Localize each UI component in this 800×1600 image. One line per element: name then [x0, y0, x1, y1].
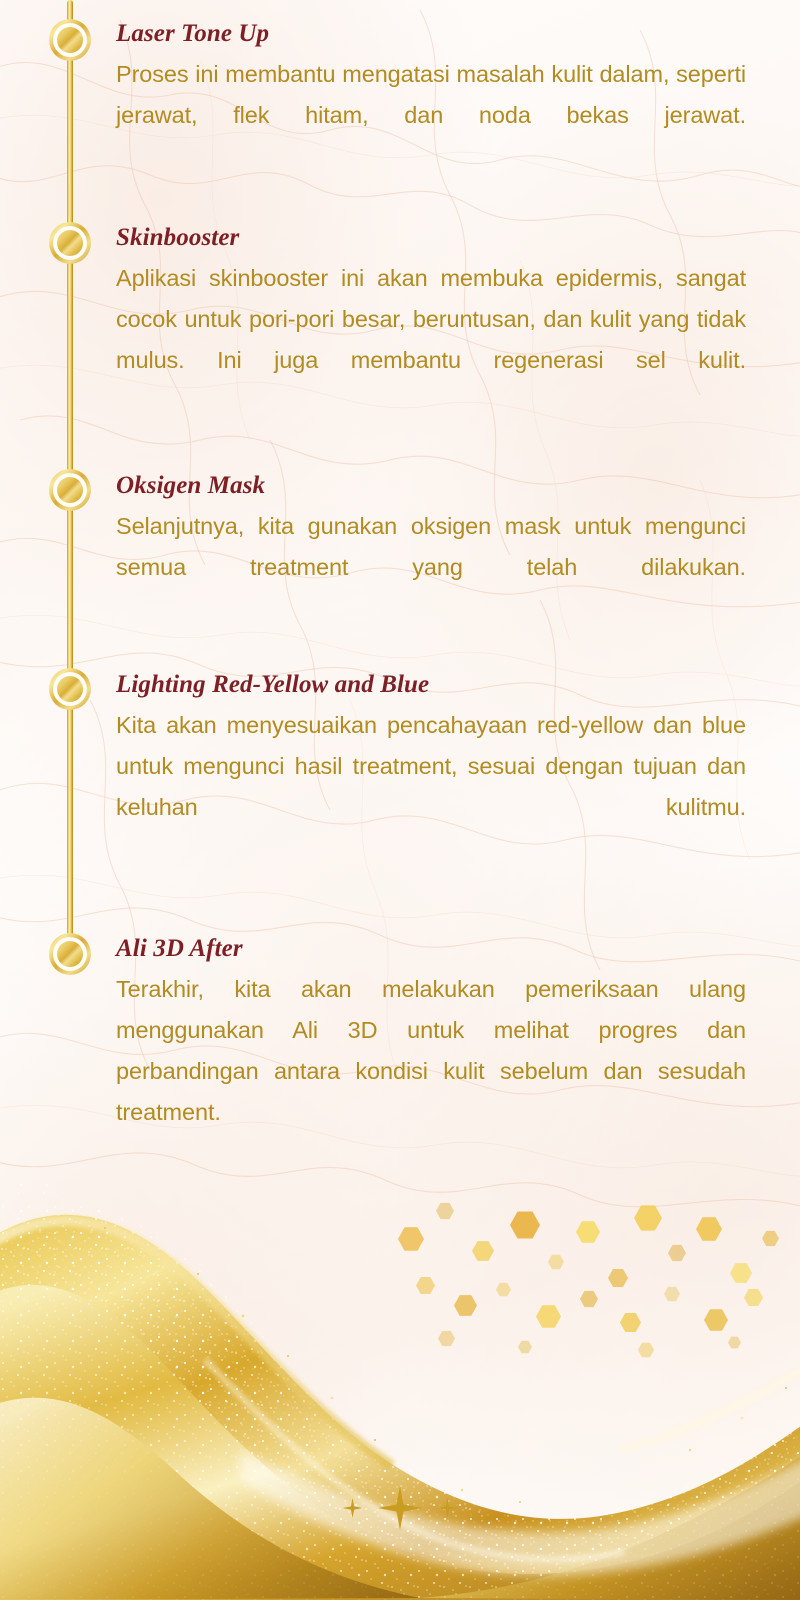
step-body: Aplikasi skinbooster ini akan membuka ep… — [116, 258, 746, 422]
timeline-marker-2 — [49, 222, 91, 264]
gold-dot-icon — [57, 941, 83, 967]
step-body: Proses ini membantu mengatasi masalah ku… — [116, 54, 746, 177]
gold-dot-icon — [57, 230, 83, 256]
step-title: Lighting Red-Yellow and Blue — [116, 671, 746, 699]
step-title: Ali 3D After — [116, 935, 746, 963]
timeline-marker-1 — [49, 19, 91, 61]
gold-dot-icon — [57, 477, 83, 503]
step-section-4: Lighting Red-Yellow and Blue Kita akan m… — [116, 671, 746, 869]
step-body: Selanjutnya, kita gunakan oksigen mask u… — [116, 506, 746, 629]
step-body: Kita akan menyesuaikan pencahayaan red-y… — [116, 705, 746, 869]
step-title: Oksigen Mask — [116, 472, 746, 500]
step-section-2: Skinbooster Aplikasi skinbooster ini aka… — [116, 224, 746, 422]
gold-dot-icon — [57, 27, 83, 53]
poster-page: Laser Tone Up Proses ini membantu mengat… — [0, 0, 800, 1600]
step-title: Skinbooster — [116, 224, 746, 252]
timeline-marker-3 — [49, 469, 91, 511]
step-title: Laser Tone Up — [116, 20, 746, 48]
step-section-1: Laser Tone Up Proses ini membantu mengat… — [116, 20, 746, 177]
step-section-5: Ali 3D After Terakhir, kita akan melakuk… — [116, 935, 746, 1174]
timeline-marker-5 — [49, 933, 91, 975]
timeline-marker-4 — [49, 668, 91, 710]
step-section-3: Oksigen Mask Selanjutnya, kita gunakan o… — [116, 472, 746, 629]
gold-dot-icon — [57, 676, 83, 702]
step-body: Terakhir, kita akan melakukan pemeriksaa… — [116, 969, 746, 1174]
